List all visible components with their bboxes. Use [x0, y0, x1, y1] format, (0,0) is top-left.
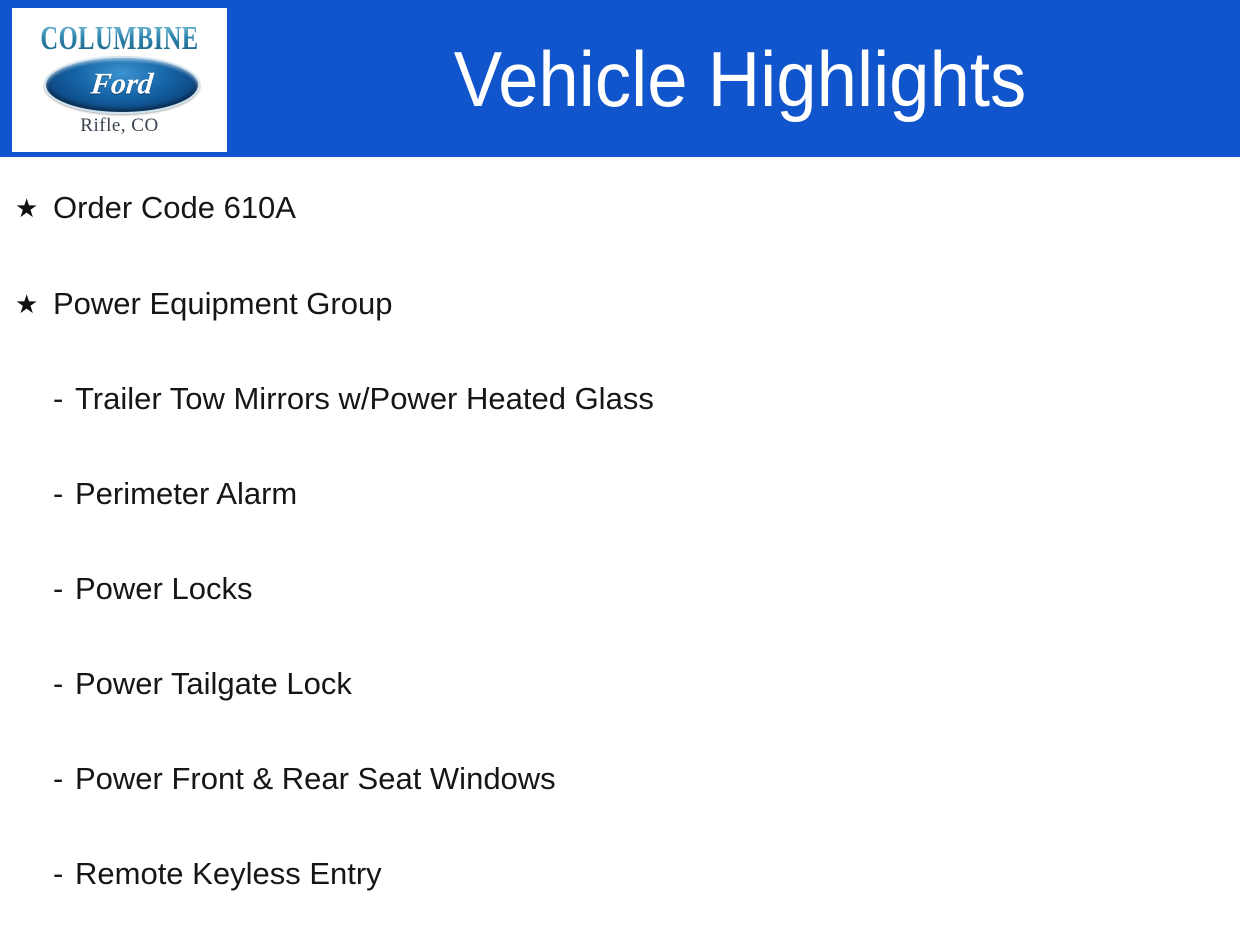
list-item-label: Remote Keyless Entry — [75, 853, 382, 895]
highlights-list: ★ Order Code 610A ★ Power Equipment Grou… — [0, 157, 1240, 948]
list-item: - Power Locks — [0, 568, 1240, 663]
list-item-label: Power Equipment Group — [35, 283, 392, 325]
star-icon: ★ — [15, 283, 35, 325]
list-item-label: Power Tailgate Lock — [75, 663, 352, 705]
dealer-logo-inner: COLUMBINE Ford Rifle, CO — [12, 8, 227, 152]
list-item: ★ Power Equipment Group — [0, 283, 1240, 378]
dealer-location-text: Rifle, CO — [12, 116, 227, 136]
list-item: - Power Tailgate Lock — [0, 663, 1240, 758]
list-item-label: Power Locks — [75, 568, 252, 610]
list-item: - Remote Keyless Entry — [0, 853, 1240, 948]
ford-wordmark-text: Ford — [44, 69, 199, 99]
dash-icon: - — [53, 473, 75, 515]
dealer-name-text: COLUMBINE — [31, 22, 207, 56]
star-icon: ★ — [15, 187, 35, 229]
list-item-label: Power Front & Rear Seat Windows — [75, 758, 556, 800]
dealer-logo: COLUMBINE Ford Rifle, CO — [12, 8, 227, 152]
list-item: - Perimeter Alarm — [0, 473, 1240, 568]
header-bar: COLUMBINE Ford Rifle, CO Vehicle Highlig… — [0, 0, 1240, 157]
list-item-label: Perimeter Alarm — [75, 473, 297, 515]
dash-icon: - — [53, 758, 75, 800]
page-title: Vehicle Highlights — [275, 0, 1205, 157]
dash-icon: - — [53, 663, 75, 705]
dash-icon: - — [53, 568, 75, 610]
dash-icon: - — [53, 378, 75, 420]
ford-oval-icon: Ford — [44, 56, 200, 114]
list-item: - Trailer Tow Mirrors w/Power Heated Gla… — [0, 378, 1240, 473]
list-item-label: Order Code 610A — [35, 187, 296, 229]
dash-icon: - — [53, 853, 75, 895]
list-item: - Power Front & Rear Seat Windows — [0, 758, 1240, 853]
list-item-label: Trailer Tow Mirrors w/Power Heated Glass — [75, 378, 654, 420]
list-item: ★ Order Code 610A — [0, 157, 1240, 283]
slide-body: ★ Order Code 610A ★ Power Equipment Grou… — [0, 157, 1240, 930]
